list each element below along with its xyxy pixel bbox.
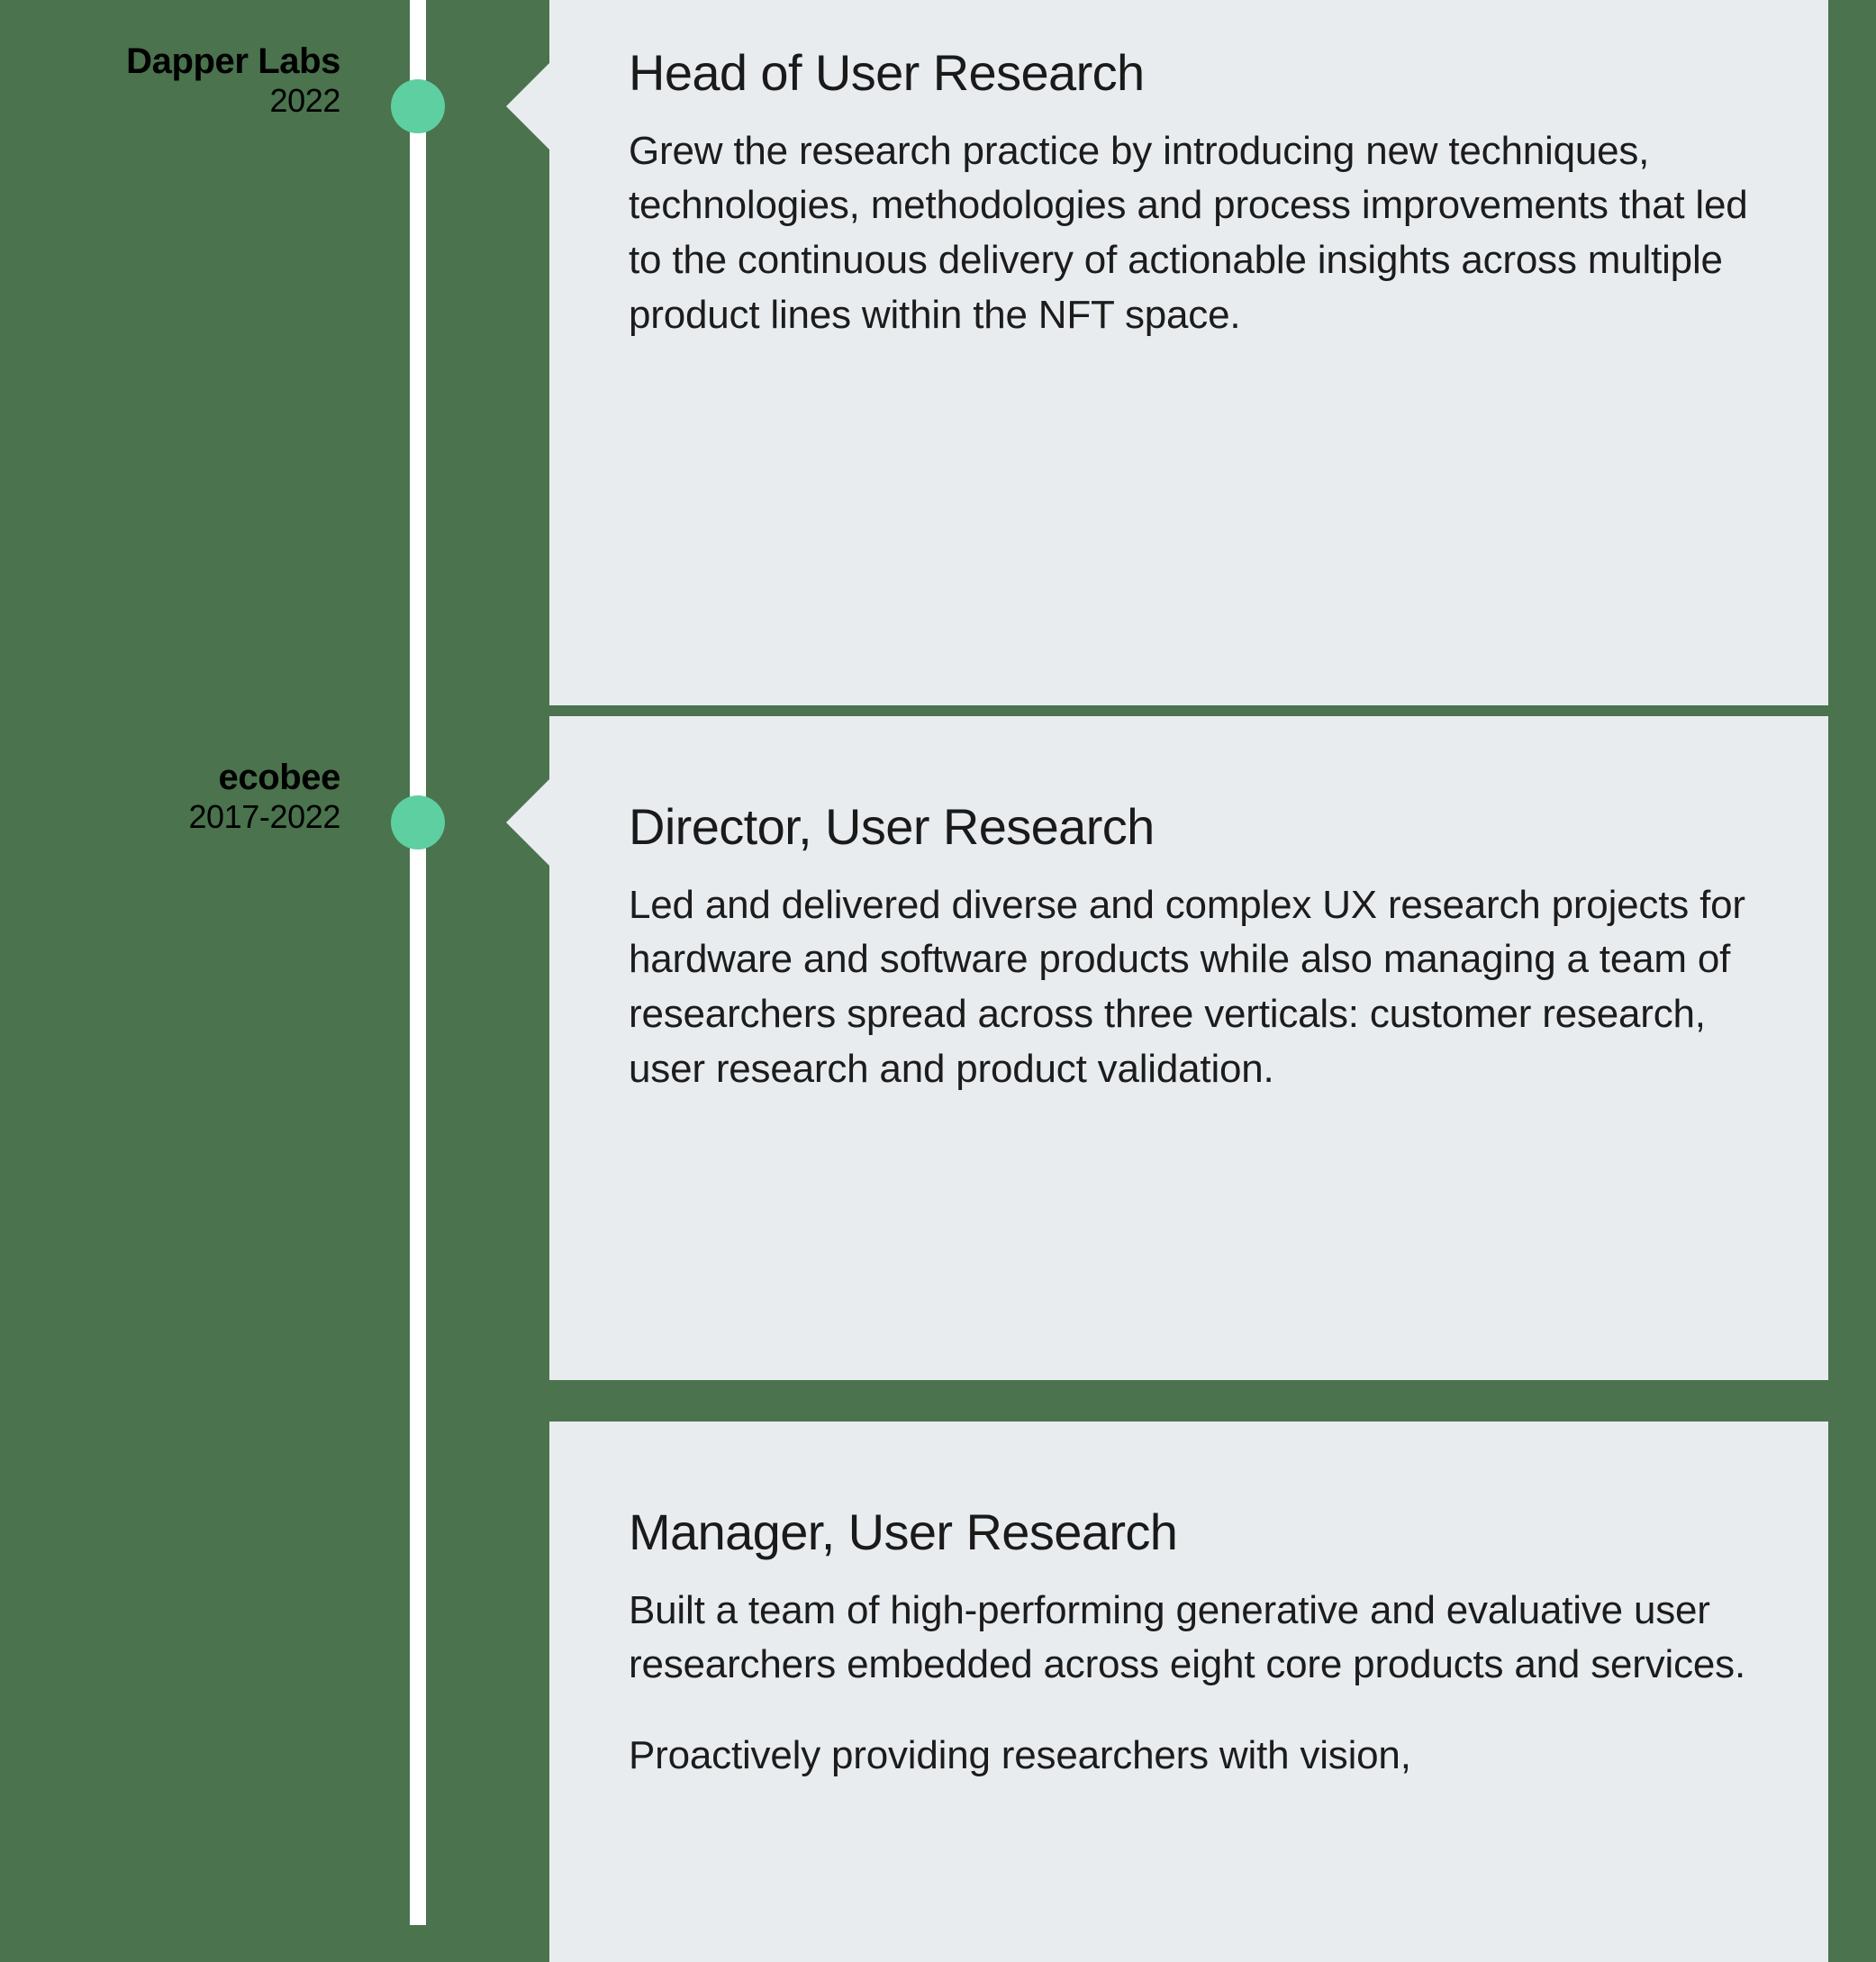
- card-pointer-icon: [506, 63, 549, 150]
- experience-timeline: Dapper Labs 2022 ecobee 2017-2022 Head o…: [0, 0, 1876, 1925]
- role-title: Manager, User Research: [629, 1504, 1749, 1560]
- organization-name: Dapper Labs: [0, 43, 340, 79]
- organization-years: 2022: [0, 85, 340, 117]
- organization-name: ecobee: [0, 759, 340, 795]
- timeline-entry-label: Dapper Labs 2022: [0, 43, 340, 117]
- role-description-paragraph: Built a team of high-performing generati…: [629, 1584, 1749, 1693]
- role-card: Director, User Research Led and delivere…: [549, 716, 1828, 1380]
- role-card: Head of User Research Grew the research …: [549, 0, 1828, 705]
- timeline-entry-label: ecobee 2017-2022: [0, 759, 340, 833]
- card-pointer-icon: [506, 779, 549, 866]
- role-description-paragraph: Led and delivered diverse and complex UX…: [629, 878, 1749, 1097]
- role-description-paragraph: Proactively providing researchers with v…: [629, 1729, 1749, 1784]
- role-description-paragraph: Grew the research practice by introducin…: [629, 124, 1749, 343]
- role-card: Manager, User Research Built a team of h…: [549, 1422, 1828, 1962]
- organization-years: 2017-2022: [0, 801, 340, 833]
- role-title: Head of User Research: [629, 45, 1749, 101]
- timeline-marker-dot: [391, 795, 445, 849]
- timeline-spine: [410, 0, 426, 1925]
- role-title: Director, User Research: [629, 799, 1749, 855]
- timeline-marker-dot: [391, 79, 445, 133]
